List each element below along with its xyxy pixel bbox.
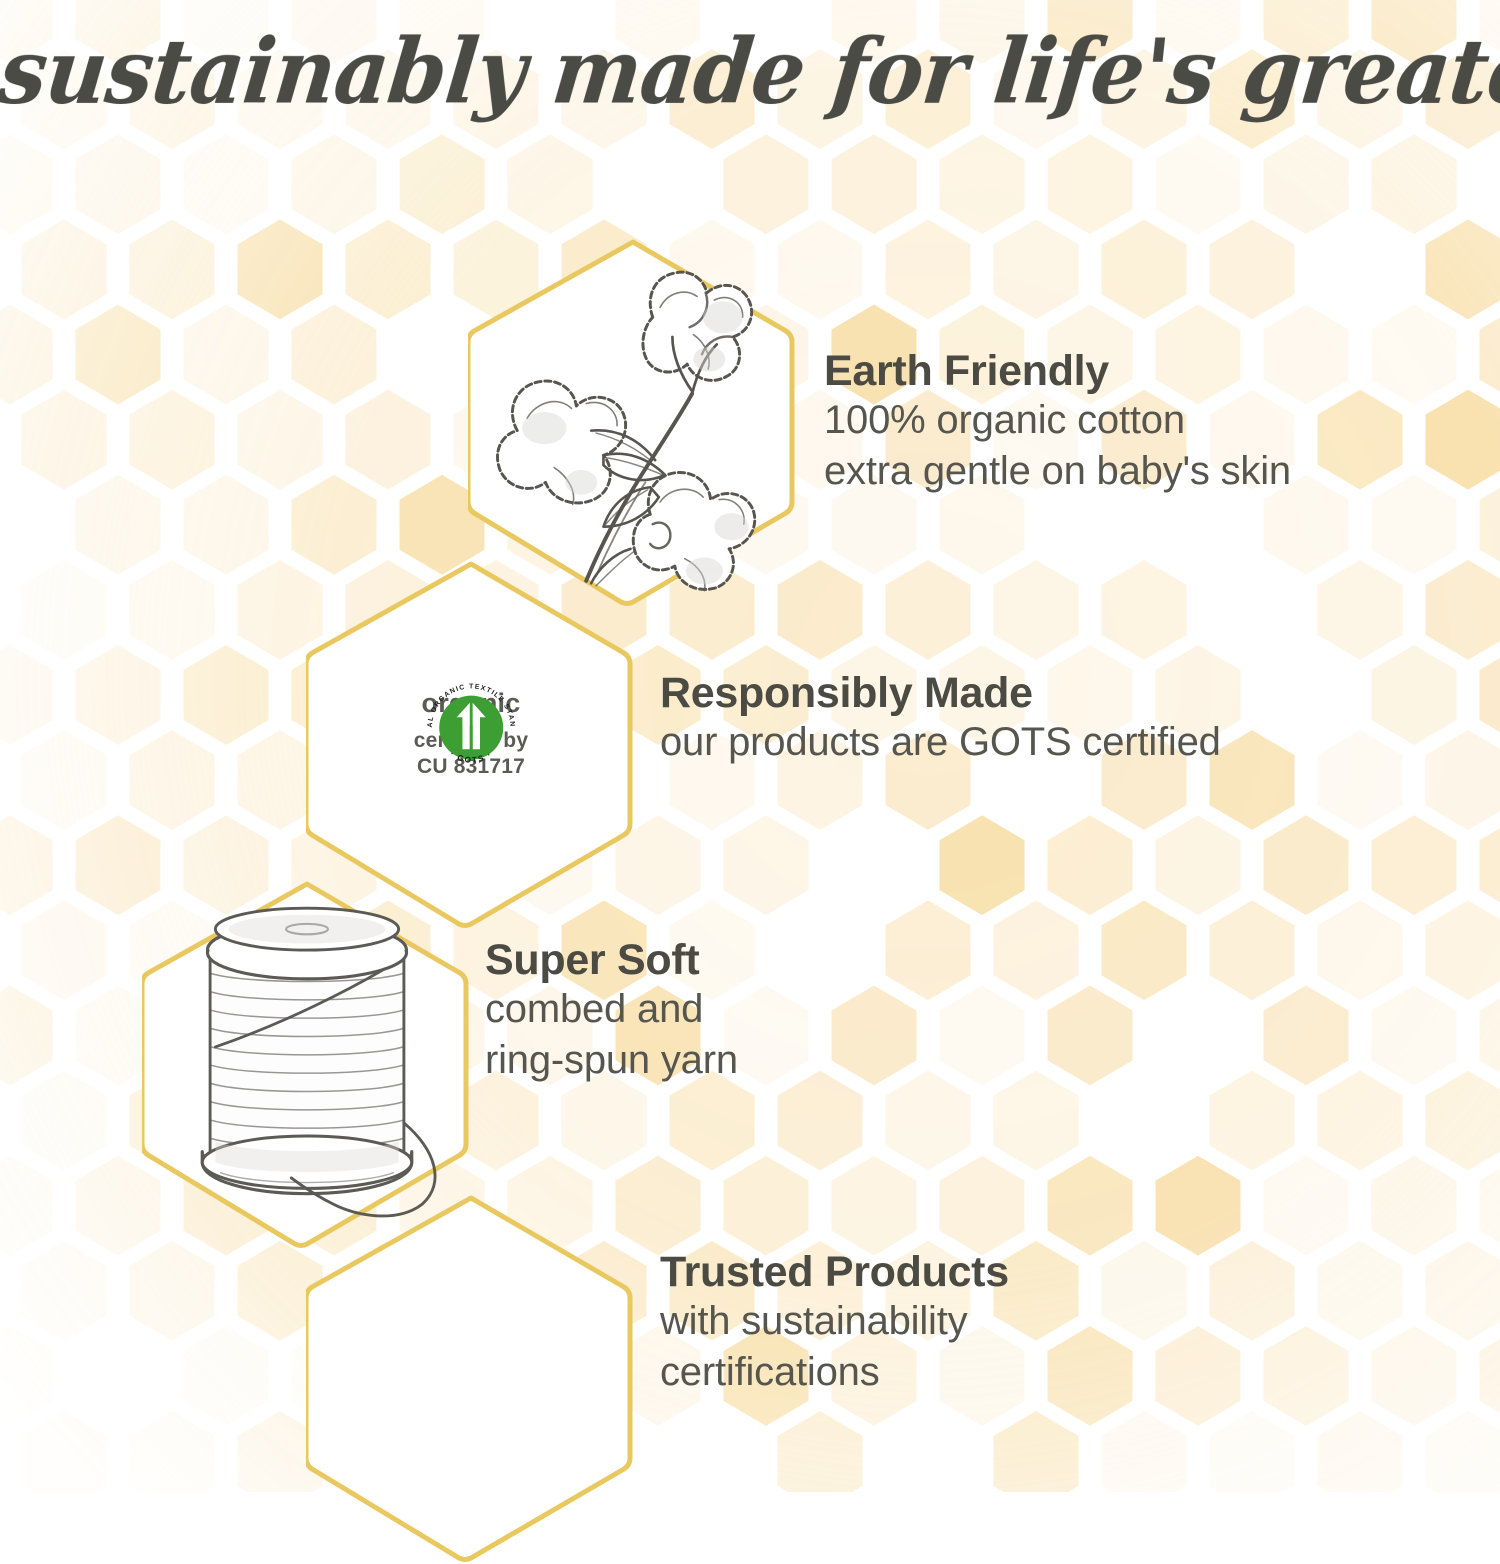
gots-seal-icon: GLOBAL ORGANIC TEXTILE STANDARD · GOTS · [414, 676, 528, 779]
hexagon-earth-friendly [468, 236, 798, 608]
feature-desc-line-2: extra gentle on baby's skin [824, 446, 1291, 497]
feature-title: Trusted Products [660, 1248, 1009, 1296]
feature-desc-line-1: our products are GOTS certified [660, 717, 1221, 768]
hexagon-responsibly-made: GLOBAL ORGANIC TEXTILE STANDARD · GOTS ·… [306, 558, 636, 930]
cotton-branch-icon [468, 236, 798, 608]
feature-desc-line-2: certifications [660, 1347, 1009, 1398]
headline-phrase: sustainably made for life's greatest joy [0, 19, 1500, 124]
feature-text-super-soft: Super Soft combed and ring-spun yarn [485, 936, 738, 1087]
climate-pledge-friendly-badge: CLIMAT PLEDG FRIENDLY [306, 1192, 636, 1564]
feature-list: Earth Friendly 100% organic cotton extra… [0, 0, 1500, 1492]
headline: sustainably made for life's greatest joy… [0, 28, 1500, 116]
feature-title: Super Soft [485, 936, 738, 984]
gots-badge: GLOBAL ORGANIC TEXTILE STANDARD · GOTS ·… [306, 558, 636, 930]
feature-title: Earth Friendly [824, 347, 1291, 395]
feature-desc-line-2: ring-spun yarn [485, 1035, 738, 1086]
feature-title: Responsibly Made [660, 669, 1221, 717]
feature-desc-line-1: with sustainability [660, 1296, 1009, 1347]
headline-text: sustainably made for life's greatest joy… [0, 25, 1500, 118]
feature-desc-line-1: combed and [485, 984, 738, 1035]
feature-text-earth-friendly: Earth Friendly 100% organic cotton extra… [824, 347, 1291, 498]
hexagon-trusted-products: CLIMAT PLEDG FRIENDLY [306, 1192, 636, 1564]
feature-desc-line-1: 100% organic cotton [824, 395, 1291, 446]
feature-text-responsibly-made: Responsibly Made our products are GOTS c… [660, 669, 1221, 768]
feature-text-trusted-products: Trusted Products with sustainability cer… [660, 1248, 1009, 1399]
